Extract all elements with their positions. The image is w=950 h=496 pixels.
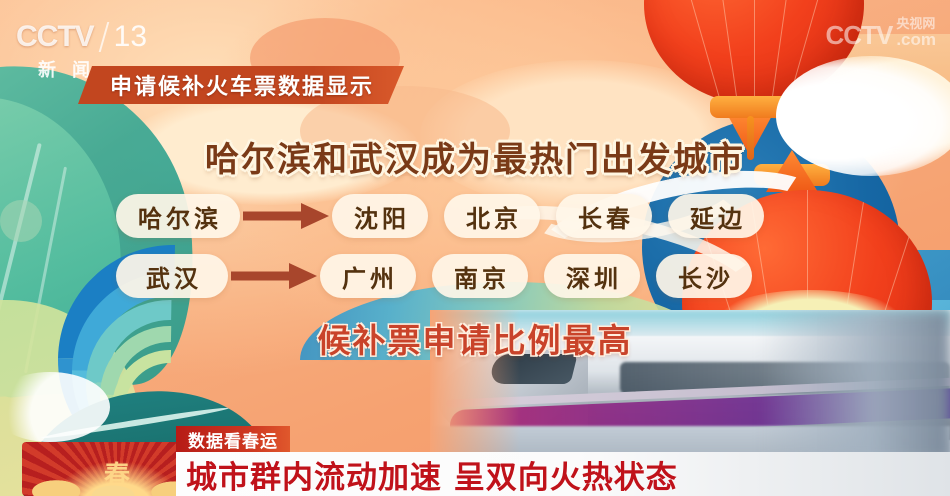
destination-city-chip[interactable]: 广州	[320, 254, 416, 298]
destination-city-chip[interactable]: 北京	[444, 194, 540, 238]
destination-city-chip[interactable]: 沈阳	[332, 194, 428, 238]
banner-label: 申请候补火车票数据显示	[110, 69, 374, 101]
channel-name-char-2: 闻	[72, 56, 90, 82]
lantern-icon-top	[644, 0, 864, 104]
destination-city-chip[interactable]: 长沙	[656, 254, 752, 298]
arrow-right-icon	[228, 254, 320, 298]
destination-city-chip[interactable]: 深圳	[544, 254, 640, 298]
channel-name-char-1: 新	[38, 56, 56, 82]
route-row: 哈尔滨沈阳北京长春延边	[0, 192, 950, 240]
segment-tag: 数据看春运	[176, 426, 290, 452]
lower-third-title: 城市群内流动加速 呈双向火热状态	[176, 452, 678, 496]
cctv-com-watermark: CCTV 央视网 .com	[826, 18, 936, 48]
logo-slash-icon	[98, 22, 109, 52]
channel-number: 13	[114, 20, 147, 54]
destination-city-chip[interactable]: 长春	[556, 194, 652, 238]
top-banner: 申请候补火车票数据显示	[78, 66, 404, 104]
route-row: 武汉广州南京深圳长沙	[0, 252, 950, 300]
origin-city-chip[interactable]: 哈尔滨	[116, 194, 240, 238]
arrow-right-icon	[240, 194, 332, 238]
watermark-com-text: .com	[896, 31, 936, 48]
origin-city-chip[interactable]: 武汉	[116, 254, 228, 298]
lower-third-bar: 城市群内流动加速 呈双向火热状态	[176, 452, 950, 496]
segment-tag-label: 数据看春运	[188, 427, 278, 452]
cctv-wordmark: CCTV	[16, 20, 94, 54]
sub-headline: 候补票申请比例最高	[0, 314, 950, 362]
lower-third: 春 数据看春运 城市群内流动加速 呈双向火热状态	[0, 412, 950, 496]
broadcast-graphic: CCTV 13 新 闻 CCTV 央视网 .com 申请候补火车票数据显示 哈尔…	[0, 0, 950, 496]
lantern-cap-top	[710, 96, 790, 118]
destination-city-chip[interactable]: 南京	[432, 254, 528, 298]
watermark-cctv-text: CCTV	[826, 22, 893, 48]
page-title: 哈尔滨和武汉成为最热门出发城市	[0, 132, 950, 181]
route-rows: 哈尔滨沈阳北京长春延边武汉广州南京深圳长沙	[0, 192, 950, 312]
destination-city-chip[interactable]: 延边	[668, 194, 764, 238]
